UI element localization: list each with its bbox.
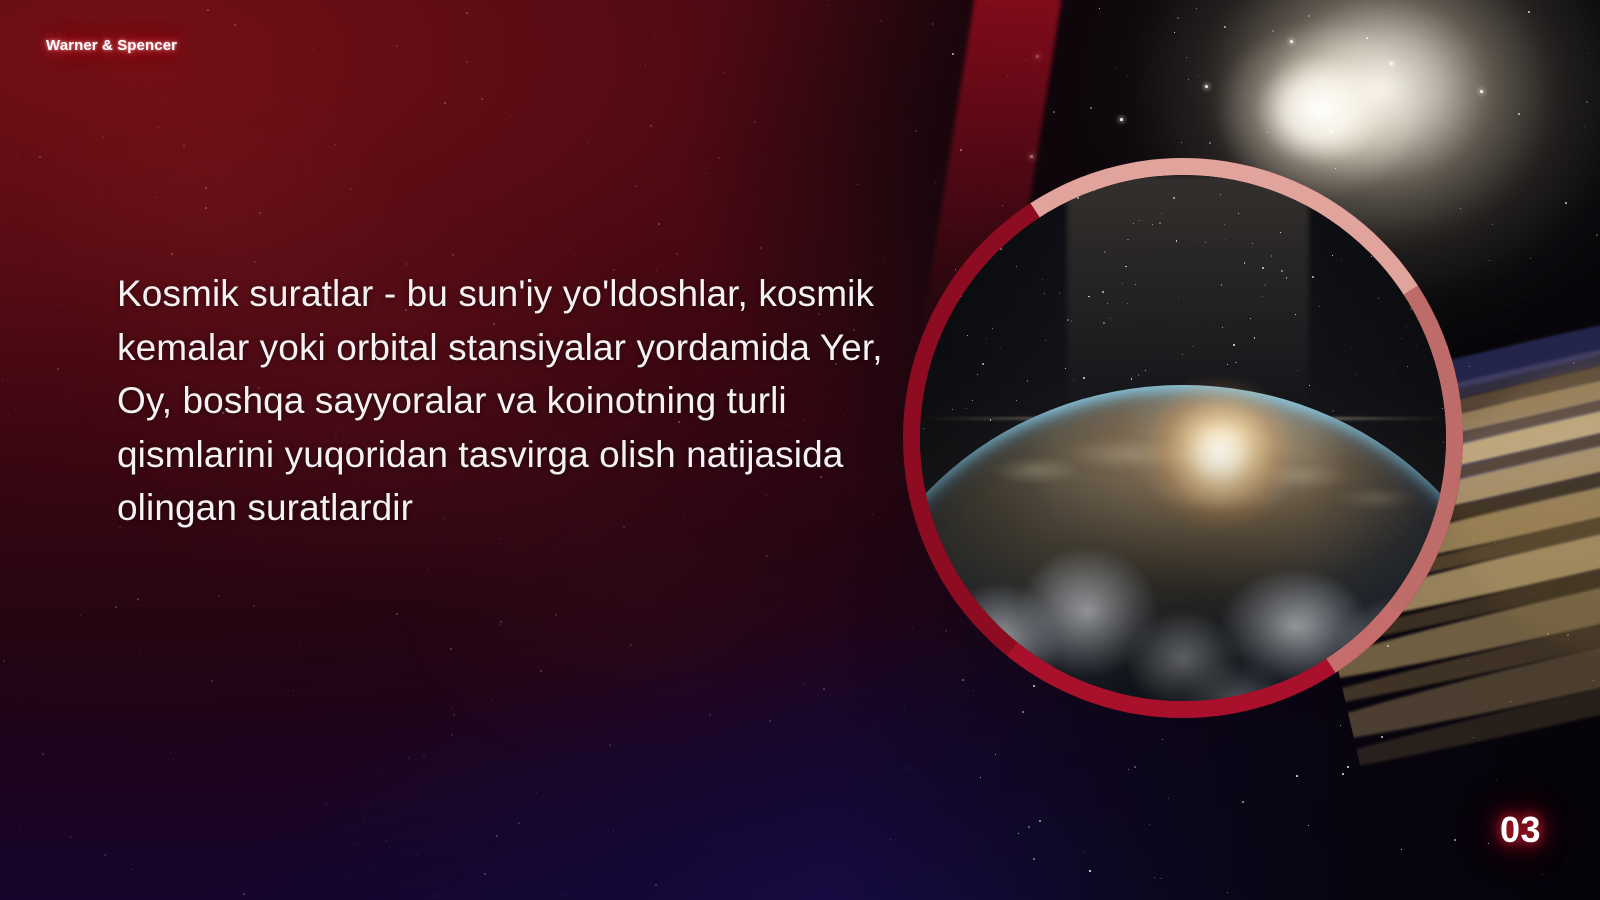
earth-photo-circle (920, 175, 1446, 701)
presentation-slide: Warner & Spencer Kosmik suratlar - bu su… (0, 0, 1600, 900)
page-number: 03 (1500, 809, 1541, 851)
slide-body-text: Kosmik suratlar - bu sun'iy yo'ldoshlar,… (117, 267, 907, 535)
photo-vignette (920, 175, 1446, 701)
brand-logo: Warner & Spencer (46, 37, 177, 54)
